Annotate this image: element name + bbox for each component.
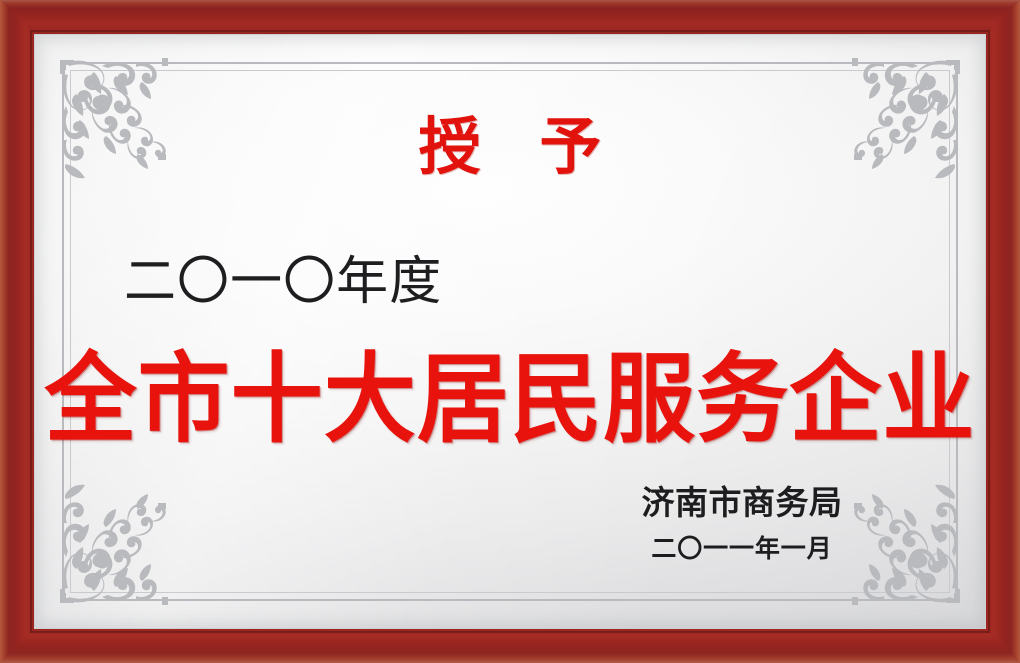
award-plaque: 授 予 二〇一〇年度 全市十大居民服务企业 济南市商务局 二〇一一年一月 bbox=[0, 0, 1020, 663]
plaque-plate: 授 予 二〇一〇年度 全市十大居民服务企业 济南市商务局 二〇一一年一月 bbox=[34, 34, 986, 629]
award-verb: 授 予 bbox=[34, 116, 986, 178]
frame-edge-bottom bbox=[0, 629, 1020, 663]
issue-date: 二〇一一年一月 bbox=[592, 536, 892, 561]
award-year-line: 二〇一〇年度 bbox=[124, 256, 442, 308]
issuing-organization: 济南市商务局 bbox=[592, 486, 892, 519]
plaque-inscription: 授 予 二〇一〇年度 全市十大居民服务企业 济南市商务局 二〇一一年一月 bbox=[34, 34, 986, 629]
frame-edge-right bbox=[986, 0, 1020, 663]
frame-edge-top bbox=[0, 0, 1020, 34]
award-title: 全市十大居民服务企业 bbox=[34, 349, 986, 450]
signature-block: 济南市商务局 二〇一一年一月 bbox=[592, 486, 892, 561]
frame-edge-left bbox=[0, 0, 34, 663]
